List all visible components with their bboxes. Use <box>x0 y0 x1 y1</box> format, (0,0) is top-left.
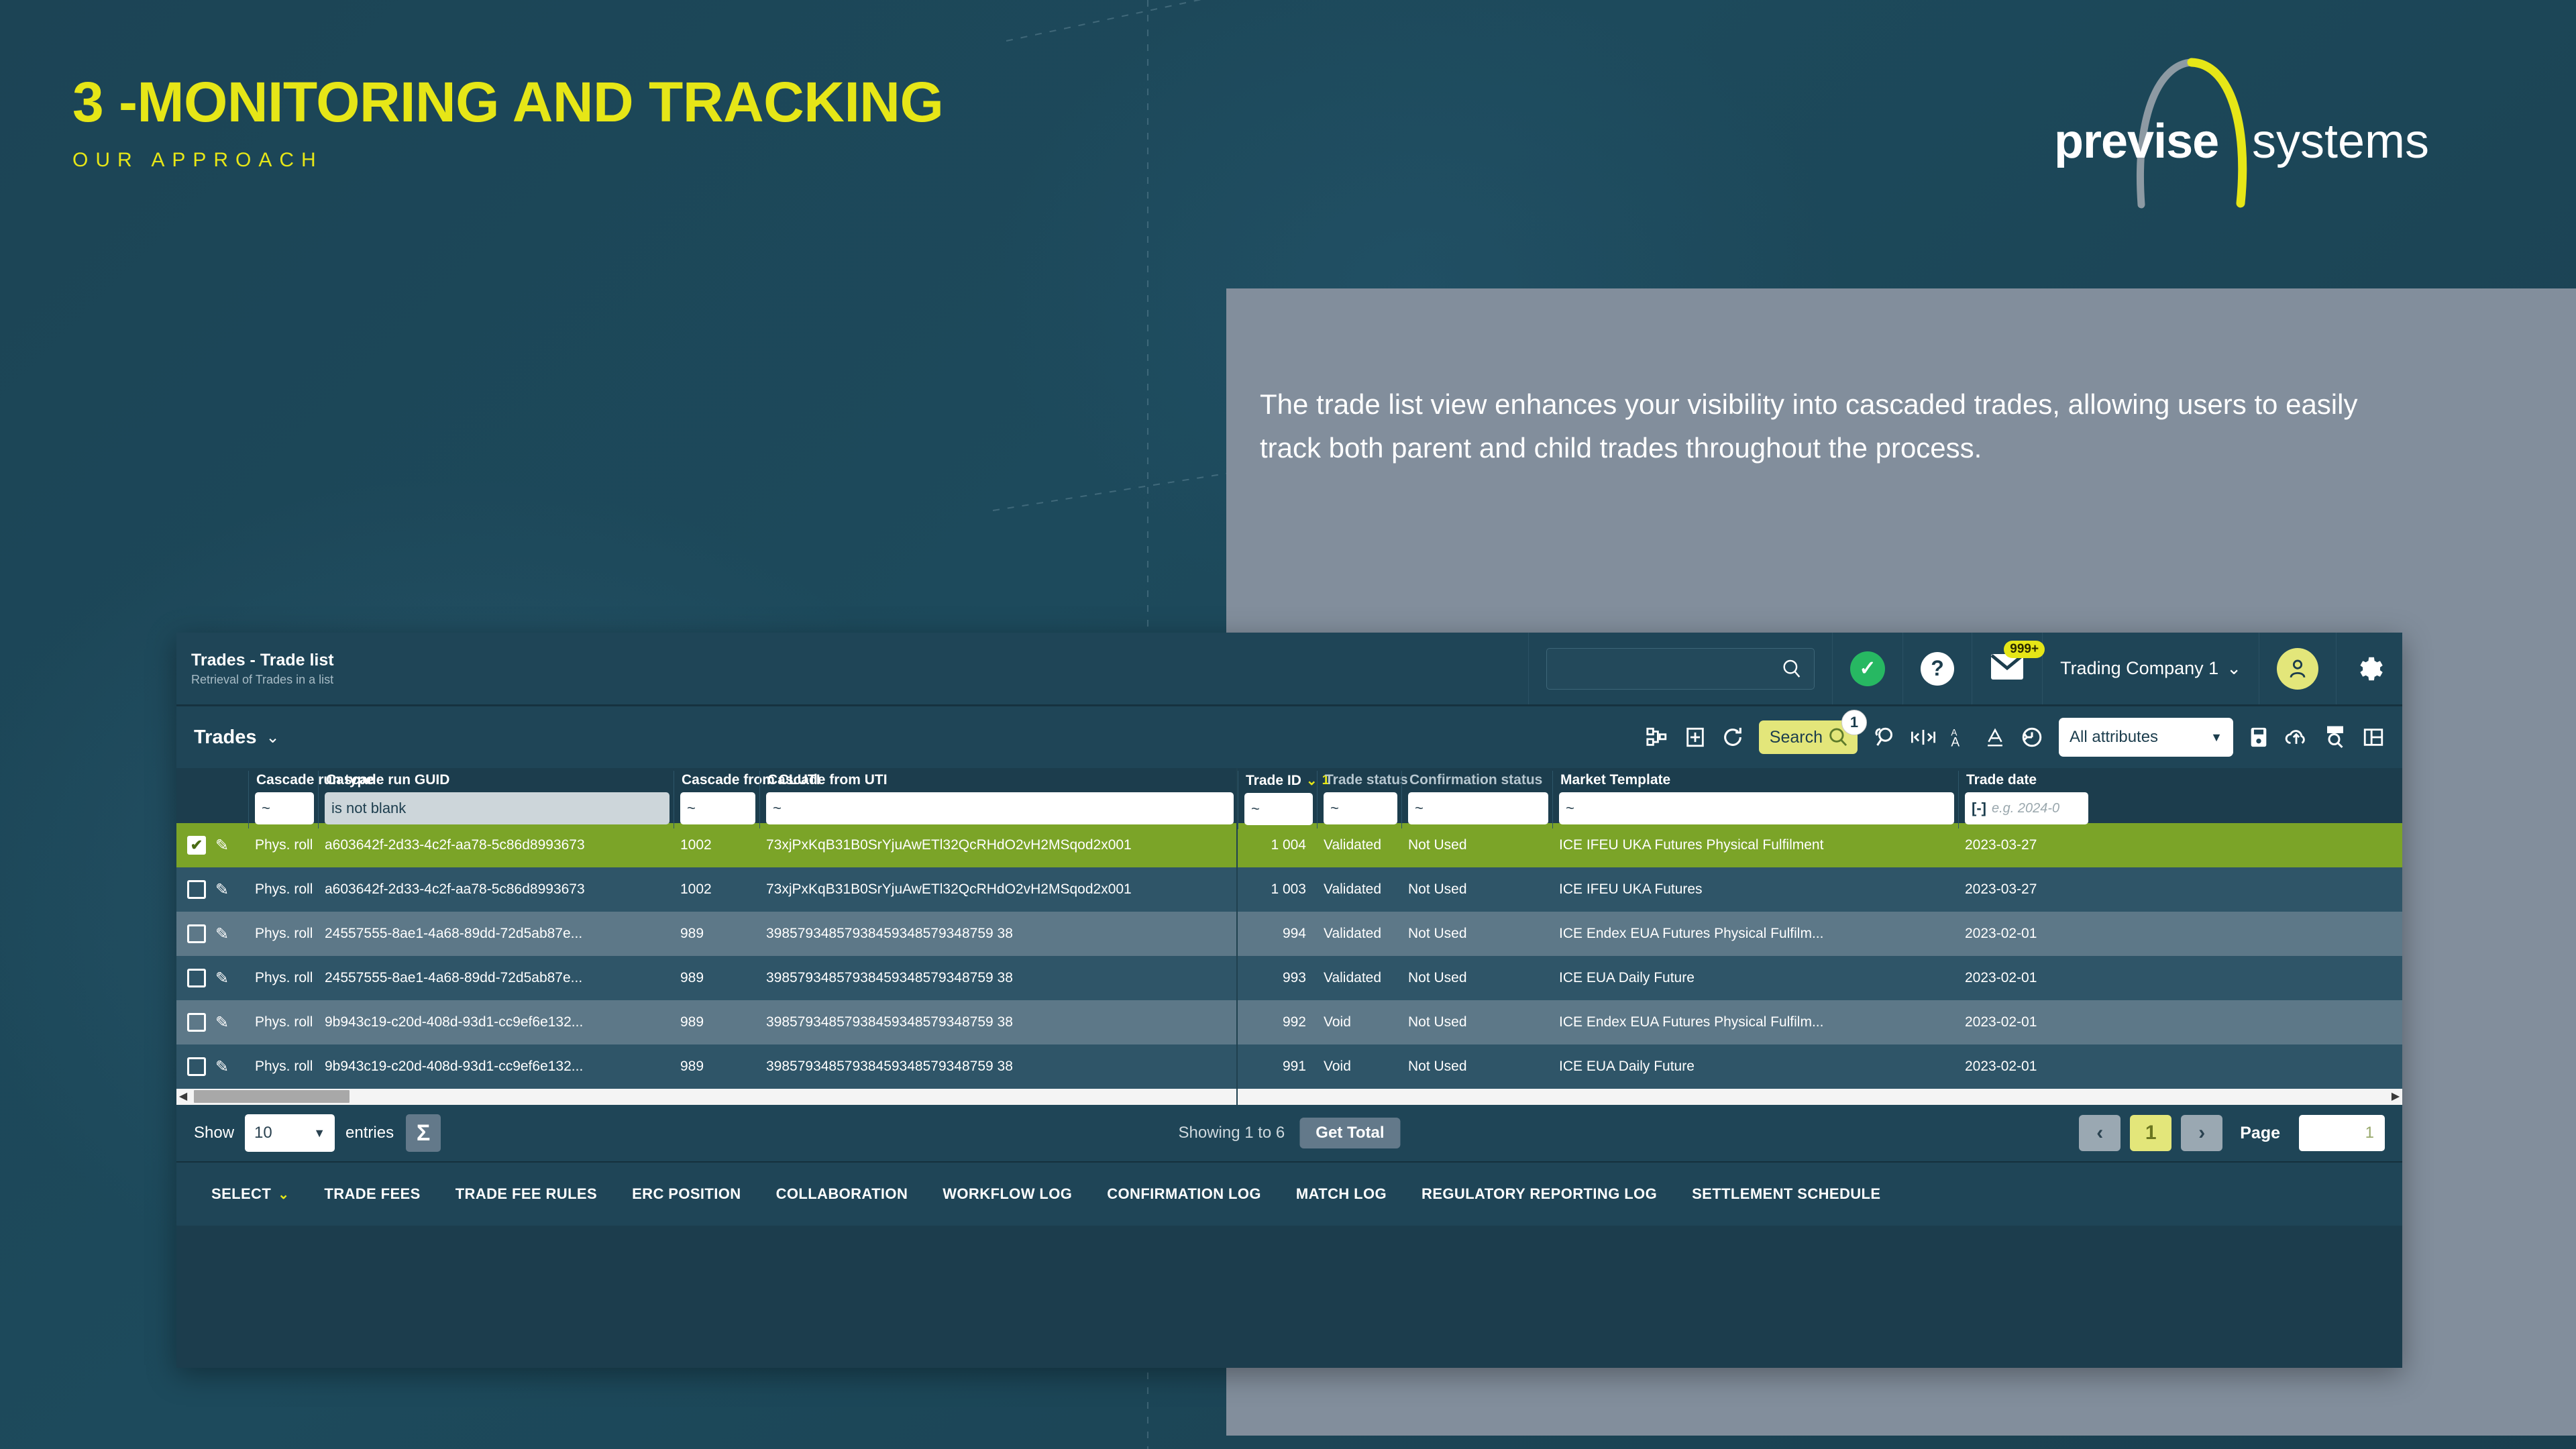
column-filter-cell: ~ <box>1401 788 1552 824</box>
row-select-cell: ✎ <box>176 1013 247 1032</box>
column-header-label: Market Template <box>1552 772 1958 788</box>
cell-confirmation-status: Not Used <box>1400 926 1551 942</box>
cell-cascade-from-cluti: 989 <box>672 926 758 942</box>
edit-row-icon[interactable]: ✎ <box>215 836 229 855</box>
app-footer <box>176 1226 2402 1287</box>
column-header-trade-id[interactable]: Trade ID⌄1~ <box>1238 768 1317 825</box>
scrollbar-thumb[interactable] <box>194 1090 350 1103</box>
messages-cell[interactable]: 999+ <box>1972 633 2042 704</box>
cell-trade-status: Validated <box>1316 837 1400 853</box>
cell-trade-date: 2023-02-01 <box>1957 970 2091 986</box>
cell-cascade-run-type: Phys. roll <box>247 837 317 853</box>
column-header-cascade-run-guid[interactable]: Cascade run GUIDis not blank <box>318 768 674 824</box>
sort-direction-icon: ⌄ <box>1306 772 1318 789</box>
cell-trade-date: 2023-03-27 <box>1957 837 2091 853</box>
cell-cascade-from-uti: 39857934857938459348579348759 38 <box>758 1059 1236 1075</box>
cell-market-template: ICE IFEU UKA Futures Physical Fulfilment <box>1551 837 1957 853</box>
cell-cascade-run-guid: 24557555-8ae1-4a68-89dd-72d5ab87e... <box>317 926 672 942</box>
table-row[interactable]: ✎Phys. rolla603642f-2d33-4c2f-aa78-5c86d… <box>176 823 2402 867</box>
title-block: 3 -MONITORING AND TRACKING OUR APPROACH <box>72 74 943 172</box>
saved-search-icon[interactable] <box>1872 725 1896 749</box>
attributes-select[interactable]: All attributes ▼ <box>2059 718 2233 757</box>
cell-trade-id: 991 <box>1236 1059 1316 1075</box>
cell-cascade-from-cluti: 1002 <box>672 837 758 853</box>
tab-settlement-schedule[interactable]: SETTLEMENT SCHEDULE <box>1674 1185 1898 1203</box>
tab-label: TRADE FEES <box>324 1185 420 1203</box>
cell-cascade-run-guid: 9b943c19-c20d-408d-93d1-cc9ef6e132... <box>317 1014 672 1030</box>
column-header-confirmation-status[interactable]: Confirmation status~ <box>1401 768 1552 824</box>
font-size-icon[interactable]: A A <box>1950 726 1970 749</box>
cell-trade-id: 1 003 <box>1236 881 1316 898</box>
column-header-label: Trade ID⌄1 <box>1238 772 1317 789</box>
cell-cascade-from-uti: 39857934857938459348579348759 38 <box>758 1014 1236 1030</box>
cell-cascade-run-guid: a603642f-2d33-4c2f-aa78-5c86d8993673 <box>317 881 672 898</box>
page-title: 3 -MONITORING AND TRACKING <box>72 74 943 130</box>
cell-trade-status: Void <box>1316 1059 1400 1075</box>
page-label: Page <box>2240 1124 2280 1143</box>
column-filter-cell: ~ <box>1552 788 1958 824</box>
row-checkbox[interactable] <box>187 969 206 987</box>
cell-cascade-from-cluti: 1002 <box>672 881 758 898</box>
attributes-select-value: All attributes <box>2070 728 2158 747</box>
column-header-label: Cascade run type <box>248 772 318 788</box>
row-checkbox[interactable] <box>187 1013 206 1032</box>
show-label: Show <box>194 1124 234 1142</box>
rows-per-page-value: 10 <box>254 1124 272 1142</box>
scroll-left-arrow[interactable]: ◀ <box>176 1091 190 1102</box>
tab-match-log[interactable]: MATCH LOG <box>1279 1185 1404 1203</box>
fit-columns-icon[interactable] <box>1911 727 1935 748</box>
pagination-center: Showing 1 to 6 Get Total <box>1178 1118 1400 1148</box>
pagination-bar: Show 10 ▼ entries Σ Showing 1 to 6 Get T… <box>176 1105 2402 1161</box>
column-filter-cell: ~ <box>759 788 1238 824</box>
column-header-cascade-run-type[interactable]: Cascade run type~ <box>248 768 318 824</box>
column-header-cascade-from-cluti[interactable]: Cascade from CLUTI~ <box>674 768 759 824</box>
table-header-row: Cascade run type~Cascade run GUIDis not … <box>176 768 2402 823</box>
cell-market-template: ICE Endex EUA Futures Physical Fulfilm..… <box>1551 926 1957 942</box>
cell-confirmation-status: Not Used <box>1400 1059 1551 1075</box>
grid-toolbar: Trades ⌄ Search <box>176 706 2402 768</box>
cell-cascade-run-guid: a603642f-2d33-4c2f-aa78-5c86d8993673 <box>317 837 672 853</box>
column-header-trade-date[interactable]: Trade date[-]e.g. 2024-0 <box>1958 768 2092 824</box>
table-row[interactable]: ✎Phys. roll9b943c19-c20d-408d-93d1-cc9ef… <box>176 1000 2402 1044</box>
cell-cascade-run-guid: 24557555-8ae1-4a68-89dd-72d5ab87e... <box>317 970 672 986</box>
application-screenshot: Trades - Trade list Retrieval of Trades … <box>176 633 2402 1368</box>
message-count-badge: 999+ <box>2004 641 2045 658</box>
date-range-toggle[interactable]: [-] <box>1972 800 1986 817</box>
column-header-market-template[interactable]: Market Template~ <box>1552 768 1958 824</box>
filter-input-cascade-run-type[interactable]: ~ <box>255 792 314 824</box>
logo-word-systems: systems <box>2252 114 2429 169</box>
cell-cascade-run-type: Phys. roll <box>247 881 317 898</box>
text-format-icon[interactable] <box>1985 726 2005 749</box>
chevron-down-icon: ⌄ <box>278 1186 289 1203</box>
cell-cascade-from-uti: 39857934857938459348579348759 38 <box>758 926 1236 942</box>
table-row[interactable]: ✎Phys. roll24557555-8ae1-4a68-89dd-72d5a… <box>176 956 2402 1000</box>
column-header-trade-status[interactable]: Trade status~ <box>1317 768 1401 824</box>
row-checkbox[interactable] <box>187 924 206 943</box>
chevron-down-icon: ▼ <box>313 1126 325 1140</box>
company-name: Trading Company 1 <box>2060 658 2218 679</box>
logo-word-previse: previse <box>2054 114 2218 169</box>
column-header-label: Cascade from CLUTI <box>674 772 759 788</box>
frozen-column-separator <box>1236 768 1238 1105</box>
filter-input-trade-status[interactable]: ~ <box>1324 792 1397 824</box>
detail-tab-bar: SELECT⌄TRADE FEESTRADE FEE RULESERC POSI… <box>176 1161 2402 1226</box>
search-icon <box>1780 657 1803 680</box>
table-body: ✎Phys. rolla603642f-2d33-4c2f-aa78-5c86d… <box>176 823 2402 1089</box>
app-header: Trades - Trade list Retrieval of Trades … <box>176 633 2402 706</box>
cell-cascade-from-cluti: 989 <box>672 1014 758 1030</box>
row-checkbox[interactable] <box>187 1057 206 1076</box>
tab-confirmation-log[interactable]: CONFIRMATION LOG <box>1089 1185 1279 1203</box>
cell-confirmation-status: Not Used <box>1400 881 1551 898</box>
filter-placeholder: e.g. 2024-0 <box>1992 801 2059 816</box>
help-cell[interactable]: ? <box>1902 633 1972 704</box>
cell-confirmation-status: Not Used <box>1400 1014 1551 1030</box>
header-actions: ✓ ? 999+ Trading Company 1 ⌄ <box>1528 633 2402 704</box>
next-page-button[interactable]: › <box>2181 1115 2222 1151</box>
column-header-label: Trade status <box>1317 772 1401 788</box>
cell-cascade-run-type: Phys. roll <box>247 1014 317 1030</box>
column-filter-cell: ~ <box>674 788 759 824</box>
add-column-icon[interactable] <box>1684 726 1707 749</box>
filter-input-trade-date[interactable]: [-]e.g. 2024-0 <box>1965 792 2088 824</box>
cell-trade-id: 994 <box>1236 926 1316 942</box>
tab-erc-position[interactable]: ERC POSITION <box>614 1185 759 1203</box>
cell-trade-status: Validated <box>1316 881 1400 898</box>
global-search-cell <box>1528 633 1832 704</box>
tab-label: SETTLEMENT SCHEDULE <box>1692 1185 1880 1203</box>
user-cell[interactable] <box>2259 633 2336 704</box>
tab-select[interactable]: SELECT⌄ <box>194 1185 307 1203</box>
row-checkbox[interactable] <box>187 880 206 899</box>
cell-trade-id: 993 <box>1236 970 1316 986</box>
bg-trend-line-1 <box>1006 0 1925 42</box>
column-header-label: Trade date <box>1958 772 2092 788</box>
tab-label: WORKFLOW LOG <box>943 1185 1072 1203</box>
grid-title: Trades <box>194 727 257 749</box>
cell-cascade-run-guid: 9b943c19-c20d-408d-93d1-cc9ef6e132... <box>317 1059 672 1075</box>
tab-label: TRADE FEE RULES <box>455 1185 597 1203</box>
active-filters-badge: 1 <box>1841 710 1867 735</box>
cell-market-template: ICE IFEU UKA Futures <box>1551 881 1957 898</box>
search-button[interactable]: Search 1 <box>1759 720 1858 754</box>
column-filter-cell: ~ <box>1317 788 1401 824</box>
cell-confirmation-status: Not Used <box>1400 970 1551 986</box>
refresh-icon[interactable] <box>1721 726 1744 749</box>
column-header-cascade-from-uti[interactable]: Cascade from UTI~ <box>759 768 1238 824</box>
edit-row-icon[interactable]: ✎ <box>215 924 229 944</box>
filter-input-confirmation-status[interactable]: ~ <box>1408 792 1548 824</box>
cell-trade-date: 2023-02-01 <box>1957 926 2091 942</box>
column-filter-cell: is not blank <box>318 788 674 824</box>
svg-text:A: A <box>1951 736 1960 749</box>
cell-trade-date: 2023-02-01 <box>1957 1059 2091 1075</box>
sum-button[interactable]: Σ <box>406 1114 441 1152</box>
column-header-label: Cascade from UTI <box>759 772 1238 788</box>
entries-label: entries <box>345 1124 394 1142</box>
scrollbar-track[interactable] <box>190 1089 2389 1105</box>
column-filter-cell: ~ <box>1238 789 1317 825</box>
tab-label: REGULATORY REPORTING LOG <box>1421 1185 1657 1203</box>
envelope-icon: 999+ <box>1990 653 2025 684</box>
tab-label: SELECT <box>211 1185 271 1203</box>
column-filter-cell: ~ <box>248 788 318 824</box>
tab-label: MATCH LOG <box>1296 1185 1387 1203</box>
cell-trade-date: 2023-02-01 <box>1957 1014 2091 1030</box>
cell-cascade-run-type: Phys. roll <box>247 926 317 942</box>
filter-input-trade-id[interactable]: ~ <box>1244 793 1313 825</box>
horizontal-scrollbar[interactable]: ◀ ▶ <box>176 1089 2402 1105</box>
page-number-button-1[interactable]: 1 <box>2130 1115 2171 1151</box>
app-title: Trades - Trade list <box>191 651 334 670</box>
filter-input-market-template[interactable]: ~ <box>1559 792 1954 824</box>
cell-cascade-from-uti: 73xjPxKqB31B0SrYjuAwETl32QcRHdO2vH2MSqod… <box>758 837 1236 853</box>
filter-input-cascade-from-uti[interactable]: ~ <box>766 792 1234 824</box>
tab-label: COLLABORATION <box>776 1185 908 1203</box>
app-title-block: Trades - Trade list Retrieval of Trades … <box>176 651 334 687</box>
save-icon[interactable] <box>2248 726 2269 749</box>
cell-trade-date: 2023-03-27 <box>1957 881 2091 898</box>
pagination-controls: ‹ 1 › Page 1 <box>2079 1115 2385 1151</box>
check-circle-icon: ✓ <box>1850 651 1885 686</box>
filter-input-cascade-run-guid[interactable]: is not blank <box>325 792 669 824</box>
cell-trade-id: 1 004 <box>1236 837 1316 853</box>
showing-range-text: Showing 1 to 6 <box>1178 1124 1285 1142</box>
edit-row-icon[interactable]: ✎ <box>215 969 229 988</box>
tab-collaboration[interactable]: COLLABORATION <box>759 1185 926 1203</box>
edit-row-icon[interactable]: ✎ <box>215 880 229 900</box>
select-column-header <box>178 768 248 772</box>
question-mark-icon: ? <box>1921 652 1954 686</box>
cell-cascade-from-cluti: 989 <box>672 970 758 986</box>
edit-row-icon[interactable]: ✎ <box>215 1057 229 1077</box>
page-subtitle: OUR APPROACH <box>72 149 943 172</box>
table-row[interactable]: ✎Phys. roll9b943c19-c20d-408d-93d1-cc9ef… <box>176 1044 2402 1089</box>
reset-icon[interactable] <box>2020 725 2044 749</box>
chevron-down-icon[interactable]: ⌄ <box>266 728 280 747</box>
tab-trade-fee-rules[interactable]: TRADE FEE RULES <box>438 1185 614 1203</box>
filter-input-cascade-from-cluti[interactable]: ~ <box>680 792 755 824</box>
tab-workflow-log[interactable]: WORKFLOW LOG <box>925 1185 1089 1203</box>
row-select-cell: ✎ <box>176 924 247 944</box>
search-button-label: Search <box>1770 728 1823 747</box>
cell-market-template: ICE EUA Daily Future <box>1551 1059 1957 1075</box>
edit-row-icon[interactable]: ✎ <box>215 1013 229 1032</box>
page-number-input[interactable]: 1 <box>2299 1115 2385 1151</box>
column-header-label: Confirmation status <box>1401 772 1552 788</box>
cell-trade-status: Validated <box>1316 926 1400 942</box>
row-checkbox[interactable] <box>187 836 206 855</box>
cell-confirmation-status: Not Used <box>1400 837 1551 853</box>
tab-label: ERC POSITION <box>632 1185 741 1203</box>
row-select-cell: ✎ <box>176 836 247 855</box>
status-cell[interactable]: ✓ <box>1832 633 1902 704</box>
chevron-down-icon: ▼ <box>2210 731 2222 745</box>
settings-cell[interactable] <box>2336 633 2402 704</box>
company-selector[interactable]: Trading Company 1 ⌄ <box>2042 633 2259 704</box>
gear-icon <box>2354 653 2385 684</box>
cell-cascade-from-uti: 73xjPxKqB31B0SrYjuAwETl32QcRHdO2vH2MSqod… <box>758 881 1236 898</box>
export-icon[interactable] <box>2323 725 2347 749</box>
app-subtitle: Retrieval of Trades in a list <box>191 673 334 687</box>
tab-regulatory-reporting-log[interactable]: REGULATORY REPORTING LOG <box>1404 1185 1674 1203</box>
row-select-cell: ✎ <box>176 1057 247 1077</box>
cell-trade-id: 992 <box>1236 1014 1316 1030</box>
scroll-right-arrow[interactable]: ▶ <box>2389 1091 2402 1102</box>
org-chart-icon[interactable] <box>1645 726 1669 749</box>
trades-table: Cascade run type~Cascade run GUIDis not … <box>176 768 2402 1105</box>
get-total-button[interactable]: Get Total <box>1299 1118 1400 1148</box>
row-select-cell: ✎ <box>176 969 247 988</box>
previous-page-button[interactable]: ‹ <box>2079 1115 2121 1151</box>
cell-cascade-run-type: Phys. roll <box>247 1059 317 1075</box>
cell-cascade-run-type: Phys. roll <box>247 970 317 986</box>
column-filter-cell: [-]e.g. 2024-0 <box>1958 788 2092 824</box>
layout-icon[interactable] <box>2362 726 2385 749</box>
description-text: The trade list view enhances your visibi… <box>1260 382 2400 470</box>
toolbar-actions: Search 1 <box>1645 718 2385 757</box>
previse-systems-logo: previse systems <box>2047 37 2477 231</box>
chevron-down-icon: ⌄ <box>2226 658 2241 679</box>
global-search-input[interactable] <box>1546 648 1815 690</box>
table-row[interactable]: ✎Phys. rolla603642f-2d33-4c2f-aa78-5c86d… <box>176 867 2402 912</box>
rows-per-page-select[interactable]: 10 ▼ <box>245 1114 335 1152</box>
table-row[interactable]: ✎Phys. roll24557555-8ae1-4a68-89dd-72d5a… <box>176 912 2402 956</box>
row-select-cell: ✎ <box>176 880 247 900</box>
upload-icon[interactable] <box>2284 726 2308 749</box>
column-header-label: Cascade run GUID <box>318 772 674 788</box>
avatar <box>2277 648 2318 690</box>
cell-trade-status: Validated <box>1316 970 1400 986</box>
cell-market-template: ICE EUA Daily Future <box>1551 970 1957 986</box>
cell-cascade-from-uti: 39857934857938459348579348759 38 <box>758 970 1236 986</box>
tab-label: CONFIRMATION LOG <box>1107 1185 1261 1203</box>
cell-market-template: ICE Endex EUA Futures Physical Fulfilm..… <box>1551 1014 1957 1030</box>
tab-trade-fees[interactable]: TRADE FEES <box>307 1185 437 1203</box>
cell-cascade-from-cluti: 989 <box>672 1059 758 1075</box>
cell-trade-status: Void <box>1316 1014 1400 1030</box>
